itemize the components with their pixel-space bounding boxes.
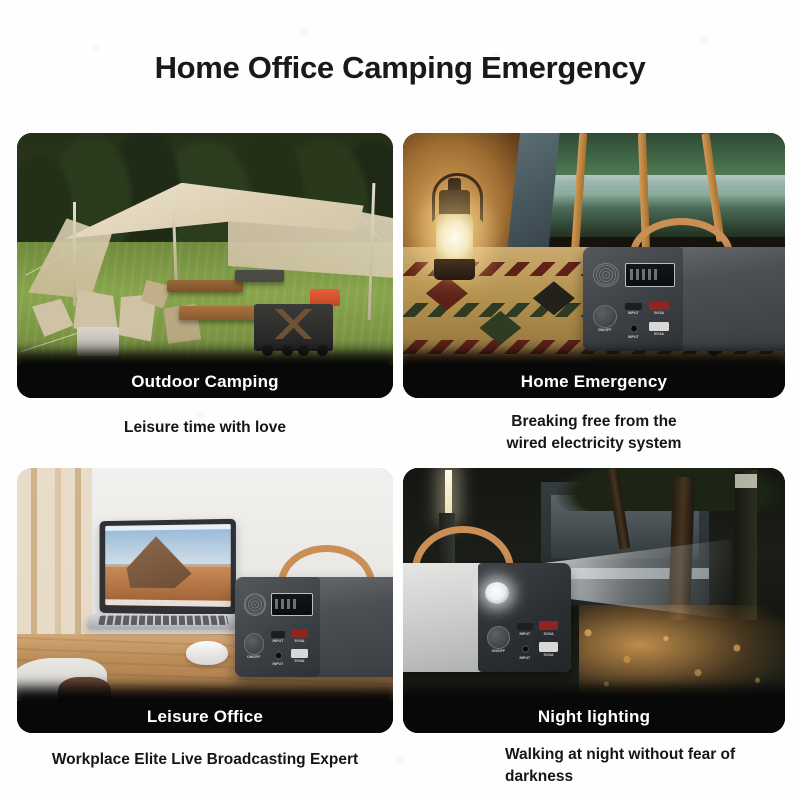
caption-bar-leisure-office: Leisure Office [17,701,393,733]
usb-input-label: INPUT [623,312,644,316]
subcaption-line-2: wired electricity system [403,433,785,455]
unit-front-panel: ON/OFF INPUT INPUT 5V/3A 5V/3A [478,563,571,672]
camp-wagon-cart [254,304,333,351]
usb-output-white-label: 5V/3A [289,660,309,664]
usb-output-red-label: 5V/3A [647,312,671,316]
street-light [445,470,452,517]
status-display [625,263,675,287]
dc-input-label: INPUT [515,657,535,661]
product-feature-collage: Home Office Camping Emergency [0,0,800,800]
usb-input-port [271,631,285,638]
power-button[interactable] [487,626,510,649]
portable-power-station: ON/OFF INPUT INPUT 5V/3A 5V/3A [235,577,393,677]
status-display [271,593,314,616]
window-blinds [17,468,92,653]
page-title: Home Office Camping Emergency [0,50,800,86]
cooling-fan-vent [244,593,266,616]
usb-output-red-label: 5V/3A [537,633,559,637]
power-button[interactable] [244,633,265,655]
laptop-lid [100,519,237,615]
caption-bar-outdoor-camping: Outdoor Camping [17,366,393,398]
usb-output-port-red [539,621,558,631]
dc-input-label: INPUT [269,663,287,667]
camp-table [235,270,284,282]
panel-outdoor-camping[interactable]: Outdoor Camping [17,133,393,398]
usb-output-port-red [649,301,669,310]
subcaption-home-emergency: Breaking free from the wired electricity… [403,411,785,455]
caption-label: Night lighting [538,707,650,727]
unit-front-panel: ON/OFF INPUT INPUT 5V/3A 5V/3A [235,577,320,677]
cooler-box [77,327,118,355]
unit-front-panel: ON/OFF INPUT INPUT 5V/3A 5V/3A [583,247,684,351]
caption-bar-home-emergency: Home Emergency [403,366,785,398]
usb-output-red-label: 5V/3A [289,640,309,644]
portable-power-station: ON/OFF INPUT INPUT 5V/3A 5V/3A [583,247,785,351]
keyboard [98,616,229,625]
camp-table [167,280,242,292]
panel-night-lighting[interactable]: ON/OFF INPUT INPUT 5V/3A 5V/3A Night lig… [403,468,785,733]
subcaption-line-2: darkness [505,766,785,788]
panel-leisure-office[interactable]: ON/OFF INPUT INPUT 5V/3A 5V/3A Leisure O… [17,468,393,733]
dock-bar [105,600,231,607]
usb-input-port [517,623,533,631]
fallen-leaves [556,610,785,705]
computer-mouse [186,641,227,665]
photo-home-emergency: ON/OFF INPUT INPUT 5V/3A 5V/3A [403,133,785,370]
photo-night-lighting: ON/OFF INPUT INPUT 5V/3A 5V/3A [403,468,785,705]
power-button[interactable] [593,305,617,328]
subcaption-line-1: Breaking free from the [403,411,785,433]
photo-leisure-office: ON/OFF INPUT INPUT 5V/3A 5V/3A [17,468,393,705]
usb-input-port [625,303,642,310]
usb-input-label: INPUT [515,633,535,637]
cooling-fan-vent [593,263,619,287]
laptop-keyboard-base [87,614,241,629]
photo-outdoor-camping [17,133,393,370]
power-button-label: ON/OFF [240,656,267,660]
usb-output-port-white [649,322,669,331]
led-flashlight [485,582,509,604]
power-button-label: ON/OFF [589,329,621,333]
usb-output-port-red [291,629,308,638]
caption-label: Outdoor Camping [131,372,278,392]
portable-power-station: ON/OFF INPUT INPUT 5V/3A 5V/3A [403,563,571,672]
laptop-screen [105,524,231,607]
tarp-pole [73,202,76,306]
usb-input-label: INPUT [269,640,287,644]
dc-input-jack [630,324,638,333]
usb-output-port-white [539,642,558,652]
subcaption-line-1: Walking at night without fear of [505,744,785,766]
power-button-label: ON/OFF [483,650,513,654]
caption-label: Leisure Office [147,707,263,727]
oil-lantern [422,171,487,290]
dc-input-label: INPUT [623,336,644,340]
caption-bar-night-lighting: Night lighting [403,701,785,733]
usb-output-port-white [291,649,308,658]
panel-home-emergency[interactable]: ON/OFF INPUT INPUT 5V/3A 5V/3A Home Emer… [403,133,785,398]
usb-output-white-label: 5V/3A [647,333,671,337]
laptop [88,520,238,643]
dc-input-jack [522,645,529,654]
usb-output-white-label: 5V/3A [537,654,559,658]
camp-table [179,306,262,320]
subcaption-night-lighting: Walking at night without fear of darknes… [505,744,785,788]
subcaption-leisure-office: Workplace Elite Live Broadcasting Expert [17,749,393,771]
subcaption-outdoor-camping: Leisure time with love [17,417,393,439]
dc-input-jack [275,651,282,660]
caption-label: Home Emergency [521,372,667,392]
